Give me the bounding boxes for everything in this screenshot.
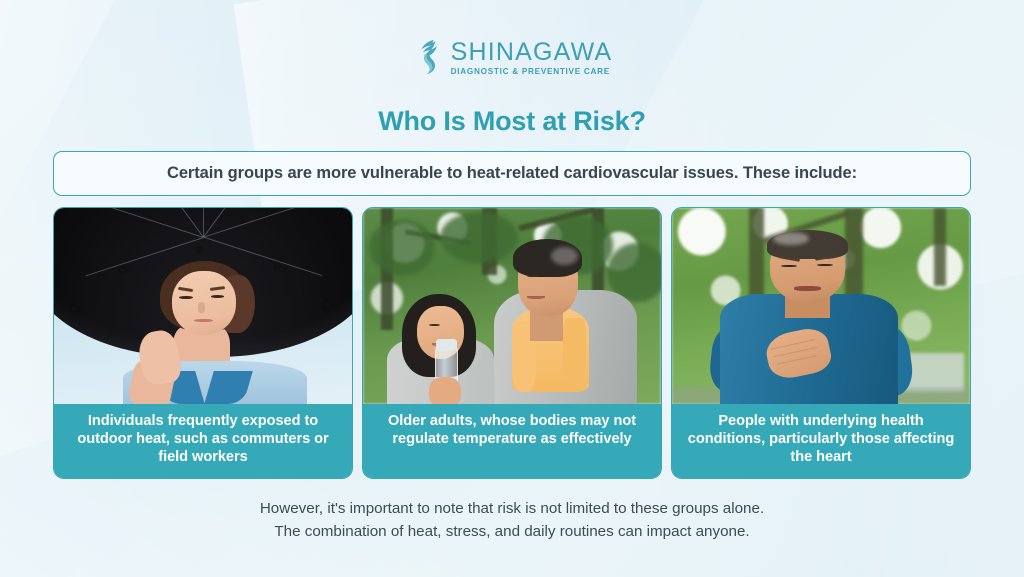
- footer-line-2: The combination of heat, stress, and dai…: [0, 521, 1024, 544]
- card-1-caption: Individuals frequently exposed to outdoo…: [54, 404, 352, 478]
- subtitle-text: Certain groups are more vulnerable to he…: [167, 164, 857, 183]
- card-2-photo: [363, 208, 661, 404]
- risk-group-card-2: Older adults, whose bodies may not regul…: [362, 207, 662, 479]
- footer-line-1: However, it's important to note that ris…: [0, 498, 1024, 521]
- feather-wing-logo-icon: [412, 38, 444, 78]
- page-title: Who Is Most at Risk?: [0, 106, 1024, 137]
- brand-wordmark: SHINAGAWA: [451, 40, 613, 65]
- risk-group-card-3: People with underlying health conditions…: [671, 207, 971, 479]
- card-3-caption: People with underlying health conditions…: [672, 404, 970, 478]
- subtitle-banner: Certain groups are more vulnerable to he…: [53, 151, 971, 196]
- risk-group-card-1: Individuals frequently exposed to outdoo…: [53, 207, 353, 479]
- brand-logo: SHINAGAWA DIAGNOSTIC & PREVENTIVE CARE: [0, 38, 1024, 78]
- slide-canvas: SHINAGAWA DIAGNOSTIC & PREVENTIVE CARE W…: [0, 0, 1024, 577]
- card-2-caption: Older adults, whose bodies may not regul…: [363, 404, 661, 478]
- card-1-photo: [54, 208, 352, 404]
- risk-group-card-list: Individuals frequently exposed to outdoo…: [53, 207, 971, 479]
- card-3-photo: [672, 208, 970, 404]
- footer-note: However, it's important to note that ris…: [0, 498, 1024, 544]
- woman-hand: [429, 377, 462, 404]
- brand-tagline: DIAGNOSTIC & PREVENTIVE CARE: [451, 68, 610, 76]
